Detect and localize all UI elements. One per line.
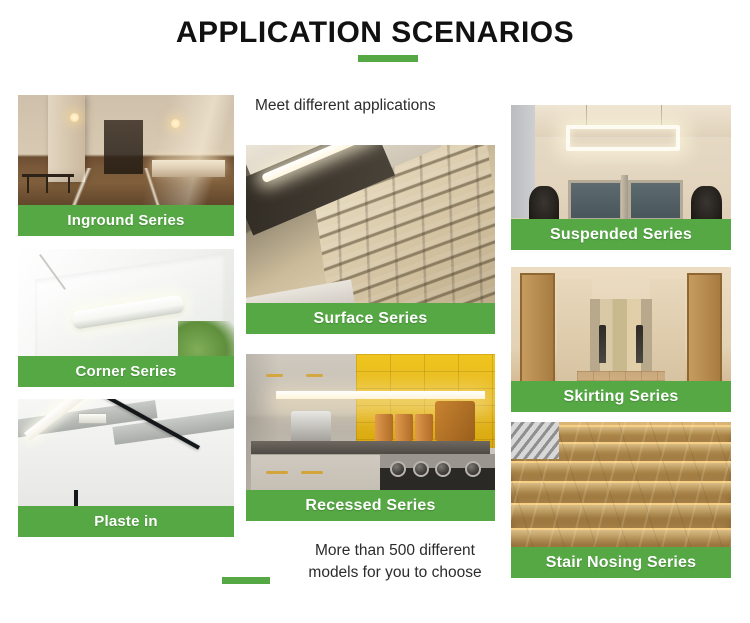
corridor-door-shape: [520, 273, 555, 386]
inground-table-leg-shape: [46, 177, 48, 193]
footer-accent-dash: [222, 577, 270, 584]
cutting-board-shape: [435, 401, 475, 441]
suspension-wire-shape: [586, 105, 587, 125]
inground-table-shape: [22, 174, 74, 177]
title-underline-accent: [358, 55, 418, 62]
scenario-card-suspended[interactable]: Suspended Series: [511, 105, 731, 250]
range-knob-shape: [465, 461, 481, 477]
footer-text: More than 500 different models for you t…: [290, 540, 500, 584]
scenario-label-suspended: Suspended Series: [511, 219, 731, 250]
recessed-under-cabinet-light-shape: [276, 391, 485, 399]
scenario-card-surface[interactable]: Surface Series: [246, 145, 495, 334]
application-scenarios-page: APPLICATION SCENARIOS Inground Series Co…: [0, 0, 750, 623]
recessed-countertop-shape: [251, 441, 490, 454]
corridor-wall-shape: [650, 279, 685, 386]
intro-text: Meet different applications: [255, 97, 436, 115]
suspended-luminaire-frame-shape: [566, 125, 680, 151]
scenario-card-plaste-in[interactable]: Plaste in: [18, 399, 234, 537]
cabinet-handle-shape: [266, 471, 288, 474]
cabinet-handle-shape: [306, 374, 323, 377]
corridor-column-shape: [599, 325, 606, 363]
suspension-wire-shape: [661, 105, 662, 125]
copper-pot-shape: [415, 414, 432, 441]
plaste-connector-clip-shape: [78, 413, 106, 424]
page-title: APPLICATION SCENARIOS: [0, 16, 750, 50]
scenario-card-corner[interactable]: Corner Series: [18, 249, 234, 387]
corridor-wall-shape: [557, 279, 592, 386]
monitor-shape: [568, 180, 623, 221]
stair-handrail-shape: [511, 422, 559, 459]
scenario-label-stair-nosing: Stair Nosing Series: [511, 547, 731, 578]
scenario-label-plaste-in: Plaste in: [18, 506, 234, 537]
coffee-machine-shape: [291, 411, 331, 444]
scenario-card-stair-nosing[interactable]: Stair Nosing Series: [511, 422, 731, 578]
copper-pot-shape: [375, 414, 392, 441]
cabinet-handle-shape: [266, 374, 283, 377]
scenario-card-inground[interactable]: Inground Series: [18, 95, 234, 236]
scenario-label-surface: Surface Series: [246, 303, 495, 334]
inground-ceiling-spot-icon: [70, 113, 79, 122]
copper-pot-shape: [395, 414, 412, 441]
inground-reception-desk-shape: [152, 160, 225, 177]
corner-edge-line: [39, 254, 66, 290]
inground-ceiling-spot-icon: [171, 119, 180, 128]
scenario-card-skirting[interactable]: Skirting Series: [511, 267, 731, 412]
range-knob-shape: [413, 461, 429, 477]
scenario-label-corner: Corner Series: [18, 356, 234, 387]
corner-led-bar-shape: [71, 294, 185, 329]
corridor-door-shape: [687, 273, 722, 386]
cabinet-handle-shape: [301, 471, 323, 474]
inground-table-leg-shape: [27, 177, 29, 193]
scenario-label-skirting: Skirting Series: [511, 381, 731, 412]
corridor-column-shape: [636, 325, 643, 363]
scenario-label-inground: Inground Series: [18, 205, 234, 236]
range-knob-shape: [435, 461, 451, 477]
inground-table-leg-shape: [68, 177, 70, 193]
scenario-card-recessed[interactable]: Recessed Series: [246, 354, 495, 521]
monitor-shape: [628, 180, 683, 221]
inground-doorway-shape: [104, 120, 143, 174]
scenario-label-recessed: Recessed Series: [246, 490, 495, 521]
